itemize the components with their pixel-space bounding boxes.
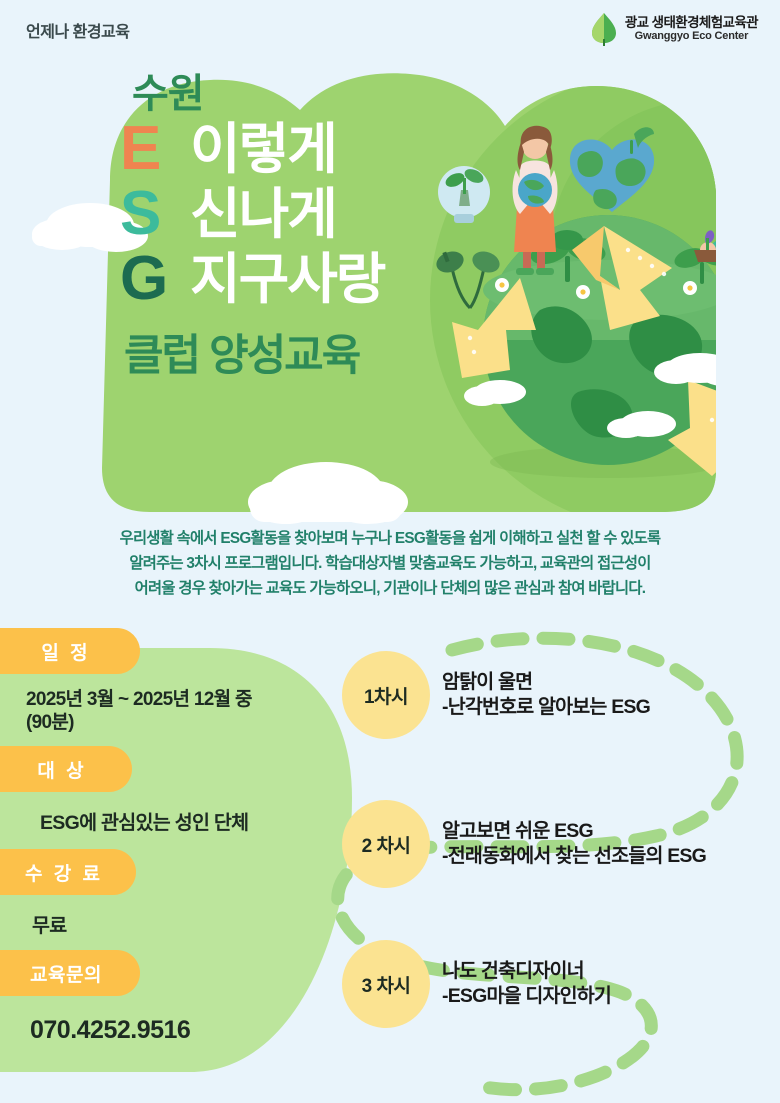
hero-title-block: 수원 E 이렇게 S 신나게 G 지구사랑 클럽 양성교육 bbox=[120, 74, 384, 383]
description-line-1: 우리생활 속에서 ESG활동을 찾아보며 누구나 ESG활동을 쉽게 이해하고 … bbox=[0, 527, 780, 552]
session-3-line-2: -ESG마을 디자인하기 bbox=[442, 984, 611, 1009]
organization-logo: 광교 생태환경체험교육관 Gwanggyo Eco Center bbox=[590, 12, 758, 46]
poster-canvas: 언제나 환경교육 광교 생태환경체험교육관 Gwanggyo Eco Cente… bbox=[0, 0, 780, 1103]
session-text-1: 암탉이 울면 -난각번호로 알아보는 ESG bbox=[442, 670, 650, 721]
info-value-target: ESG에 관심있는 성인 단체 bbox=[0, 806, 360, 835]
session-item-3: 3 차시 나도 건축디자이너 -ESG마을 디자인하기 bbox=[342, 940, 611, 1028]
session-2-line-1: 알고보면 쉬운 ESG bbox=[442, 819, 706, 844]
hero-line-s: S 신나게 bbox=[120, 185, 384, 244]
info-label-fee: 수 강 료 bbox=[0, 849, 136, 895]
logo-text-block: 광교 생태환경체험교육관 Gwanggyo Eco Center bbox=[625, 15, 758, 43]
esg-word-e: 이렇게 bbox=[190, 122, 336, 177]
session-1-line-1: 암탉이 울면 bbox=[442, 670, 650, 695]
program-description: 우리생활 속에서 ESG활동을 찾아보며 누구나 ESG활동을 쉽게 이해하고 … bbox=[0, 527, 780, 601]
session-2-line-2: -전래동화에서 찾는 선조들의 ESG bbox=[442, 844, 706, 869]
esg-letter-g: G bbox=[120, 250, 182, 309]
hero-line-e: E 이렇게 bbox=[120, 120, 384, 179]
info-panel: 일 정 2025년 3월 ~ 2025년 12월 중 (90분) 대 상 ESG… bbox=[0, 628, 360, 1045]
session-badge-2: 2 차시 bbox=[342, 800, 430, 888]
session-1-line-2: -난각번호로 알아보는 ESG bbox=[442, 695, 650, 720]
esg-word-g: 지구사랑 bbox=[190, 252, 384, 307]
session-item-2: 2 차시 알고보면 쉬운 ESG -전래동화에서 찾는 선조들의 ESG bbox=[342, 800, 706, 888]
session-3-line-1: 나도 건축디자이너 bbox=[442, 959, 611, 984]
schedule-line-2: (90분) bbox=[26, 711, 360, 734]
session-badge-1: 1차시 bbox=[342, 651, 430, 739]
hero-region-label: 수원 bbox=[132, 74, 384, 114]
description-line-2: 알려주는 3차시 프로그램입니다. 학습대상자별 맞춤교육도 가능하고, 교육관… bbox=[0, 552, 780, 577]
session-badge-3: 3 차시 bbox=[342, 940, 430, 1028]
logo-korean-name: 광교 생태환경체험교육관 bbox=[625, 15, 758, 31]
info-value-fee: 무료 bbox=[0, 909, 360, 938]
session-text-2: 알고보면 쉬운 ESG -전래동화에서 찾는 선조들의 ESG bbox=[442, 819, 706, 870]
leaf-icon bbox=[590, 12, 618, 46]
info-label-target: 대 상 bbox=[0, 746, 132, 792]
info-value-schedule: 2025년 3월 ~ 2025년 12월 중 (90분) bbox=[0, 688, 360, 734]
schedule-line-1: 2025년 3월 ~ 2025년 12월 중 bbox=[26, 688, 360, 711]
esg-letter-s: S bbox=[120, 185, 182, 244]
logo-english-name: Gwanggyo Eco Center bbox=[625, 30, 758, 43]
session-text-3: 나도 건축디자이너 -ESG마을 디자인하기 bbox=[442, 959, 611, 1010]
session-item-1: 1차시 암탉이 울면 -난각번호로 알아보는 ESG bbox=[342, 651, 650, 739]
header-tagline: 언제나 환경교육 bbox=[26, 18, 130, 42]
info-label-contact: 교육문의 bbox=[0, 950, 140, 996]
esg-word-s: 신나게 bbox=[190, 187, 336, 242]
info-label-schedule: 일 정 bbox=[0, 628, 140, 674]
hero-illustration bbox=[0, 0, 780, 530]
hero-footer-title: 클럽 양성교육 bbox=[124, 321, 384, 383]
info-value-phone: 070.4252.9516 bbox=[0, 1016, 360, 1045]
hero-line-g: G 지구사랑 bbox=[120, 250, 384, 309]
description-line-3: 어려울 경우 찾아가는 교육도 가능하오니, 기관이나 단체의 많은 관심과 참… bbox=[0, 577, 780, 602]
esg-letter-e: E bbox=[120, 120, 182, 179]
hero-section: 수원 E 이렇게 S 신나게 G 지구사랑 클럽 양성교육 bbox=[0, 0, 780, 530]
poster-header: 언제나 환경교육 광교 생태환경체험교육관 Gwanggyo Eco Cente… bbox=[0, 0, 780, 62]
